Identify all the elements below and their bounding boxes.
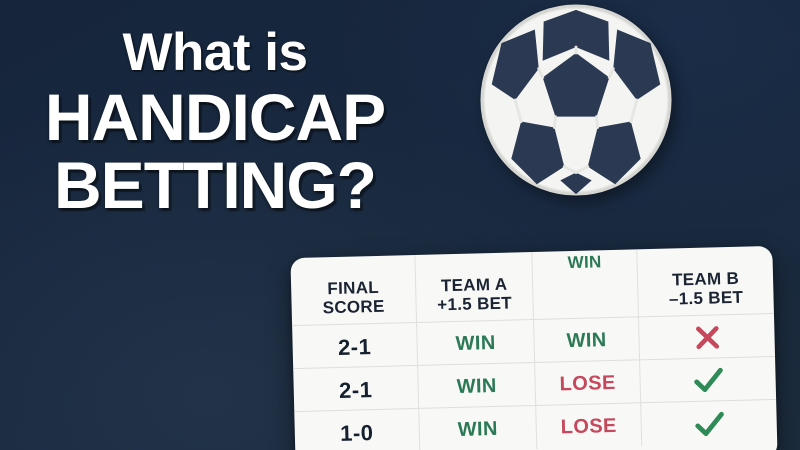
title-line-what-is: What is: [0, 26, 430, 80]
table-row: [641, 400, 777, 446]
title-line-handicap: HANDICAP: [0, 84, 430, 152]
table-row: 2-1: [293, 366, 419, 412]
header-line1: FINAL: [322, 278, 384, 299]
table-row: WIN: [417, 320, 535, 366]
table-row: 2-1: [292, 323, 418, 369]
header-line1: TEAM A: [437, 274, 512, 295]
table-row: WIN: [418, 363, 536, 409]
table-row: 1-0: [294, 409, 420, 450]
handicap-results-table: FINAL SCORE TEAM A +1.5 BET WIN TEAM B –…: [290, 246, 777, 450]
column-header-team-b: TEAM B –1.5 BET: [637, 246, 774, 317]
header-line1: TEAM B: [668, 269, 743, 290]
header-line2: +1.5 BET: [437, 294, 512, 315]
column-header-outcome: WIN: [532, 249, 639, 320]
soccer-ball-icon: [478, 2, 674, 198]
header-line2: –1.5 BET: [669, 288, 744, 309]
table-row: [640, 357, 776, 403]
title-line-betting: BETTING?: [0, 152, 430, 220]
check-icon: [691, 365, 726, 396]
check-icon: [692, 409, 727, 440]
table-row: WIN: [534, 317, 640, 363]
header-line1: WIN: [567, 252, 601, 272]
page-title: What is HANDICAP BETTING?: [0, 26, 430, 220]
table-grid: FINAL SCORE TEAM A +1.5 BET WIN TEAM B –…: [290, 246, 777, 450]
table-row: LOSE: [536, 403, 642, 449]
table-row: [639, 314, 775, 360]
column-header-final-score: FINAL SCORE: [290, 255, 417, 326]
table-row: WIN: [419, 406, 537, 450]
column-header-team-a: TEAM A +1.5 BET: [415, 252, 534, 323]
cross-icon: [692, 322, 723, 353]
header-line2: SCORE: [322, 297, 384, 318]
promo-graphic: What is HANDICAP BETTING?: [0, 0, 800, 450]
table-row: LOSE: [535, 360, 641, 406]
